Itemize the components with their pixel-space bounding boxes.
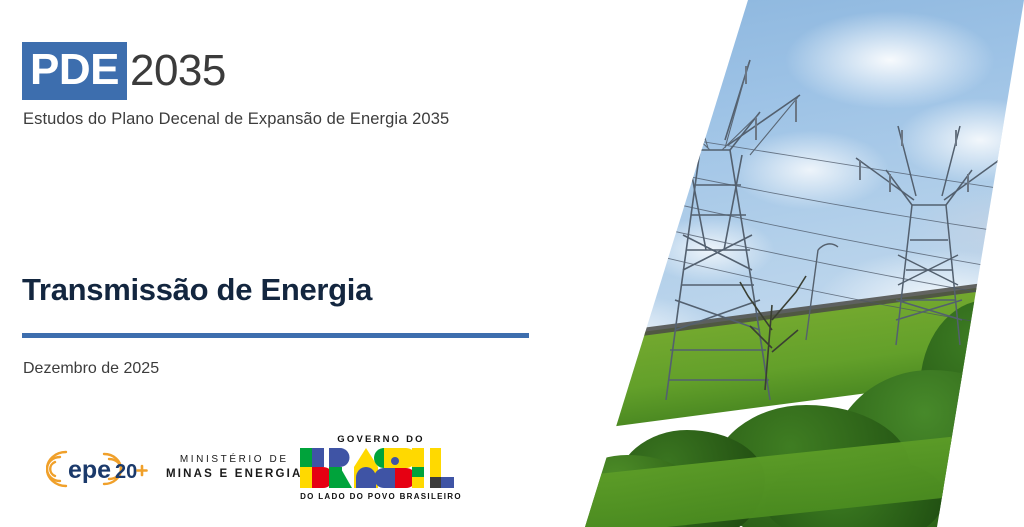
epe-logo: epe 20 (46, 448, 156, 490)
ministry-line-1: MINISTÉRIO DE (166, 454, 303, 465)
ministry-line-2: MINAS E ENERGIA (166, 468, 303, 480)
transmission-towers-icon (560, 0, 1024, 400)
government-logo: GOVERNO DO (296, 434, 466, 501)
brasil-wordmark-icon (300, 448, 462, 488)
cover-page: PDE 2035 Estudos do Plano Decenal de Exp… (0, 0, 1024, 527)
epe-anniversary: 20 (115, 461, 137, 483)
government-top-label: GOVERNO DO (296, 434, 466, 445)
logo-bar: epe 20 MINISTÉRIO DE MINAS E ENERGIA GOV… (0, 428, 560, 508)
epe-wordmark: epe (68, 456, 111, 484)
plus-icon (138, 466, 147, 475)
pde-year: 2035 (130, 49, 226, 93)
title-divider (22, 333, 529, 338)
publication-date: Dezembro de 2025 (23, 360, 159, 378)
pde-badge: PDE (22, 42, 127, 100)
page-title: Transmissão de Energia (22, 272, 372, 308)
pde-brand: PDE 2035 (22, 42, 226, 100)
government-tagline: DO LADO DO POVO BRASILEIRO (296, 492, 466, 501)
photo-inner (560, 0, 1024, 527)
ministry-logo: MINISTÉRIO DE MINAS E ENERGIA (166, 454, 303, 480)
document-subtitle: Estudos do Plano Decenal de Expansão de … (23, 110, 449, 129)
